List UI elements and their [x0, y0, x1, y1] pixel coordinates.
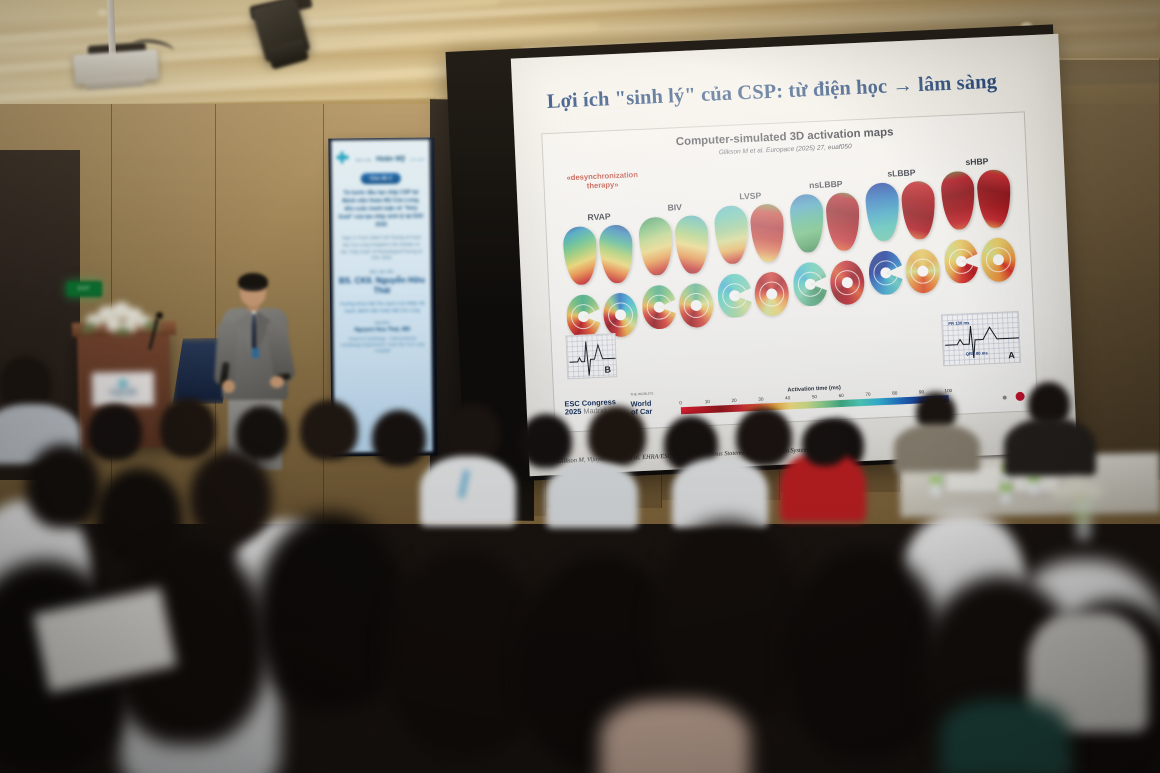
audience-head — [190, 450, 272, 542]
activation-panel-rvap: RVAP — [561, 186, 642, 343]
panel-label: nsLBBP — [789, 178, 863, 191]
activation-panel-shbp: sHBP — [940, 169, 1019, 288]
audience-head — [372, 410, 426, 466]
banner-title-vi: Từ bước đầu tạo nhịp CSP tại Bệnh viện H… — [338, 190, 424, 231]
heart-3d-model — [865, 178, 942, 243]
banner-hospital-logo: BỆNH VIỆN Hoàn Mỹ CỬU LONG — [331, 147, 429, 166]
speaker-badge — [252, 348, 259, 358]
colorbar-tick: 30 — [758, 397, 763, 402]
panel-label: BIV — [638, 201, 712, 214]
audience-shoulders — [546, 462, 638, 528]
activation-time-colorbar: Activation time (ms) 0102030405060708090… — [680, 380, 949, 414]
colorbar-tick: 60 — [839, 393, 844, 398]
ecg-pr-label: PR 130 ms — [948, 320, 969, 326]
audience-head — [786, 548, 944, 760]
audience-shoulders — [420, 456, 516, 526]
bullseye-polar-map — [717, 269, 793, 322]
dot-inactive — [1003, 395, 1007, 399]
ecg-panel-right: PR 130 ms QRS 90 ms A — [941, 311, 1021, 366]
banner-logo-name: Hoàn Mỹ — [376, 156, 405, 163]
audience-head — [256, 512, 406, 712]
audience-head — [802, 420, 848, 466]
colorbar-tick: 100 — [944, 388, 952, 393]
panel-label: sLBBP — [864, 166, 938, 179]
exit-sign-label: EXIT — [78, 286, 90, 292]
heart-3d-model — [789, 190, 866, 255]
banner-affiliation-en: Head of Cardiology – Interventional Card… — [339, 335, 425, 355]
bullseye-polar-map — [792, 258, 868, 311]
audience-head — [588, 406, 646, 466]
banner-role-label: Báo cáo viên — [333, 269, 431, 275]
banner-speaker-name-en: Nguyen Huu Thai, MD — [333, 326, 431, 333]
esc-logo-year: 2025 — [565, 407, 582, 417]
colorbar-tick: 70 — [865, 392, 870, 397]
colorbar-tick: 20 — [731, 398, 736, 403]
audience-shoulders — [600, 700, 750, 773]
bullseye-polar-map — [641, 281, 717, 334]
colorbar-tick: 0 — [679, 400, 682, 405]
heart-3d-model — [714, 201, 791, 266]
bullseye-polar-map — [868, 246, 944, 299]
activation-panel-nslbbp: nsLBBP — [789, 176, 869, 311]
audience-head — [444, 404, 500, 462]
audience-head — [300, 400, 358, 460]
colorbar-tick: 10 — [705, 399, 710, 404]
ecg-qrs-label: QRS 90 ms — [966, 350, 988, 356]
audience-shoulders — [894, 424, 980, 472]
activation-panel-biv: BIV — [637, 183, 718, 334]
banner-speaker-name: BS. CKII. Nguyễn Hữu Thái — [333, 276, 431, 298]
audience-shoulders — [672, 458, 768, 528]
banner-logo-sub: CỬU LONG — [410, 158, 425, 162]
audience-head — [88, 404, 142, 460]
banner-affiliation-vi: Trưởng Khoa Nội Tim mạch Can thiệp nội m… — [339, 300, 425, 315]
heart-3d-model — [638, 213, 715, 278]
panel-label: sHBP — [940, 155, 1014, 168]
conference-hall-scene: EXIT Lợi ích "sinh lý" của CSP: từ điện … — [0, 0, 1160, 773]
podium-logo-sub: CỬU LONG — [116, 396, 130, 399]
podium-microphone-icon — [156, 312, 163, 319]
colorbar-tick: 90 — [919, 389, 924, 394]
medical-cross-icon — [118, 379, 128, 389]
audience-head — [652, 520, 804, 725]
colorbar-tick: 80 — [892, 390, 897, 395]
heart-3d-model — [940, 167, 1017, 232]
slide-indicator-dots — [1002, 392, 1024, 402]
ecg-panel-letter: A — [1008, 350, 1015, 360]
projection-screen: Lợi ích "sinh lý" của CSP: từ điện học →… — [511, 34, 1077, 476]
audience-head — [160, 398, 216, 458]
banner-topic-chip: Chủ đề 2 — [361, 173, 401, 184]
panel-label: RVAP — [562, 210, 636, 223]
audience-head — [26, 444, 100, 528]
audience-head — [520, 414, 572, 468]
ecg-panel-letter: B — [604, 364, 611, 374]
dot-active — [1015, 392, 1024, 401]
heart-3d-model — [562, 222, 639, 287]
flower-arrangement — [1048, 476, 1118, 506]
colorbar-tick: 40 — [785, 395, 790, 400]
audience-shoulders — [1004, 418, 1096, 476]
audience-head — [736, 408, 792, 466]
panel-label: LVSP — [713, 189, 787, 202]
audience-head — [386, 548, 542, 758]
ecg-panel-left: B — [565, 333, 617, 379]
banner-speaker-label: Speaker — [333, 319, 431, 325]
glasses-icon — [241, 287, 265, 292]
medical-cross-icon — [336, 151, 348, 163]
colorbar-tick: 50 — [812, 394, 817, 399]
activation-panel-lvsp: LVSP — [713, 179, 793, 322]
podium-hospital-logo: Hoàn Mỹ CỬU LONG — [92, 371, 155, 406]
activation-panel-slbbp: sLBBP — [864, 172, 944, 299]
banner-logo-top: BỆNH VIỆN — [356, 159, 372, 162]
exit-sign: EXIT — [66, 281, 102, 297]
banner-title-en: Topic 2: From Initial CSP Pacing at Hoan… — [339, 234, 423, 262]
audience-shoulders — [940, 700, 1070, 773]
slide-title: Lợi ích "sinh lý" của CSP: từ điện học →… — [546, 68, 1047, 114]
bullseye-polar-map — [943, 235, 1019, 288]
slide-figure-container: Computer-simulated 3D activation maps Gl… — [541, 111, 1038, 433]
